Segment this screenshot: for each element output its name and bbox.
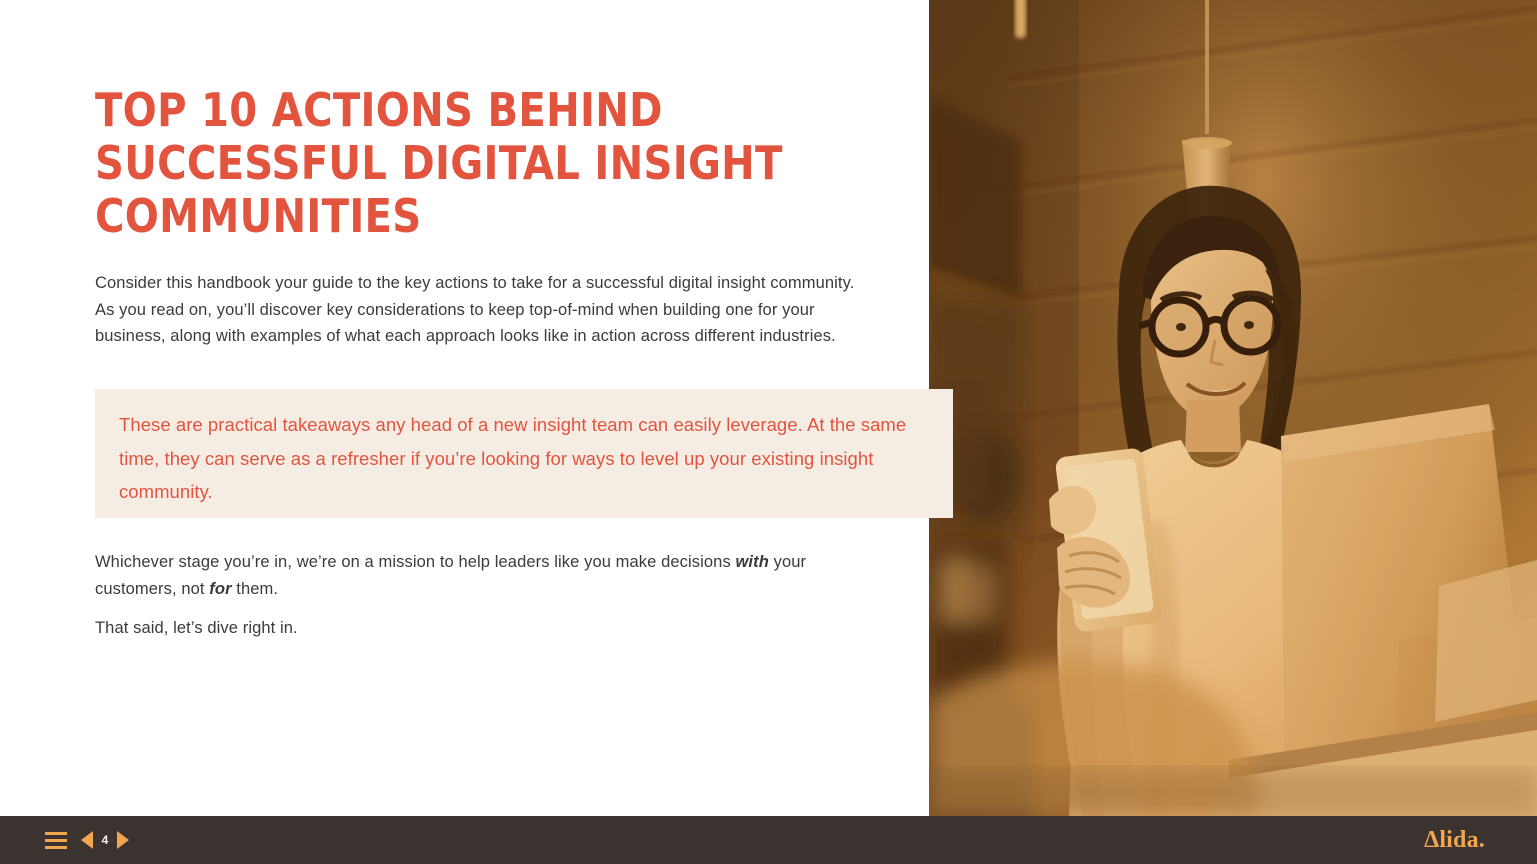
page-title: TOP 10 ACTIONS BEHIND SUCCESSFUL DIGITAL…	[95, 84, 871, 243]
callout-box: These are practical takeaways any head o…	[95, 389, 953, 518]
toolbar-brand: Δlida.	[1424, 827, 1485, 854]
triangle-left-icon[interactable]	[81, 831, 93, 849]
hamburger-bar-1	[45, 832, 67, 835]
closing-paragraph: Whichever stage you’re in, we’re on a mi…	[95, 549, 855, 603]
bottom-toolbar: 4 Δlida.	[0, 816, 1537, 864]
page-navigation: 4	[81, 831, 129, 849]
intro-paragraph: Consider this handbook your guide to the…	[95, 270, 875, 350]
hero-photo	[929, 0, 1537, 816]
hamburger-bar-3	[45, 846, 67, 849]
hamburger-menu-icon[interactable]	[45, 832, 67, 849]
closing-part-3: them.	[232, 580, 278, 598]
closing-emphasis-with: with	[736, 553, 769, 571]
closing-emphasis-for: for	[209, 580, 231, 598]
closing-part-1: Whichever stage you’re in, we’re on a mi…	[95, 553, 736, 571]
logo-delta-mark: Δ	[1424, 828, 1439, 852]
toolbar-controls: 4	[45, 831, 129, 849]
logo-wordmark: lida.	[1439, 827, 1485, 854]
triangle-right-icon[interactable]	[117, 831, 129, 849]
page-number: 4	[100, 833, 110, 847]
final-paragraph: That said, let’s dive right in.	[95, 615, 795, 641]
hamburger-bar-2	[45, 839, 67, 842]
callout-text: These are practical takeaways any head o…	[119, 408, 934, 509]
content-column: TOP 10 ACTIONS BEHIND SUCCESSFUL DIGITAL…	[0, 0, 929, 816]
alida-logo[interactable]: Δlida.	[1424, 827, 1485, 854]
slide-page: TOP 10 ACTIONS BEHIND SUCCESSFUL DIGITAL…	[0, 0, 1537, 864]
